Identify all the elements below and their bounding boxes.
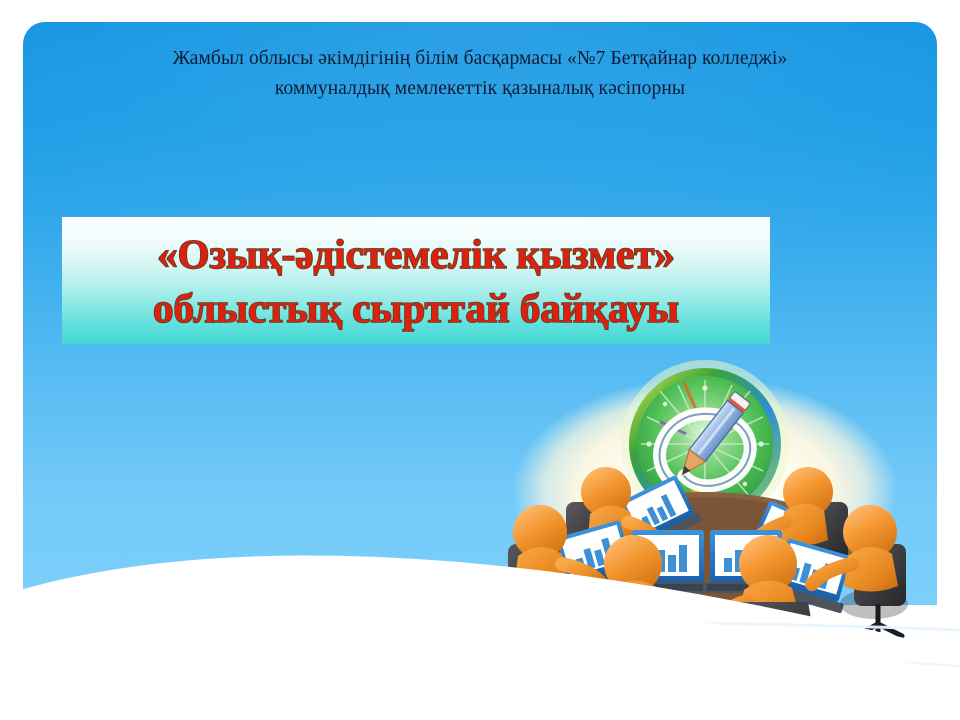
header-line-2: коммуналдық мемлекеттік қазыналық кәсіпо…	[23, 74, 937, 104]
slide: Жамбыл облысы әкімдігінің білім басқарма…	[0, 0, 960, 720]
bottom-white-swoosh	[0, 470, 960, 720]
title-line-1: «Озық-әдістемелік қызмет»	[157, 227, 675, 281]
title-banner: «Озық-әдістемелік қызмет» облыстық сыртт…	[62, 217, 770, 344]
header-organization-name: Жамбыл облысы әкімдігінің білім басқарма…	[23, 44, 937, 104]
title-line-2: облыстық сырттай байқауы	[153, 281, 679, 335]
header-line-1: Жамбыл облысы әкімдігінің білім басқарма…	[23, 44, 937, 74]
